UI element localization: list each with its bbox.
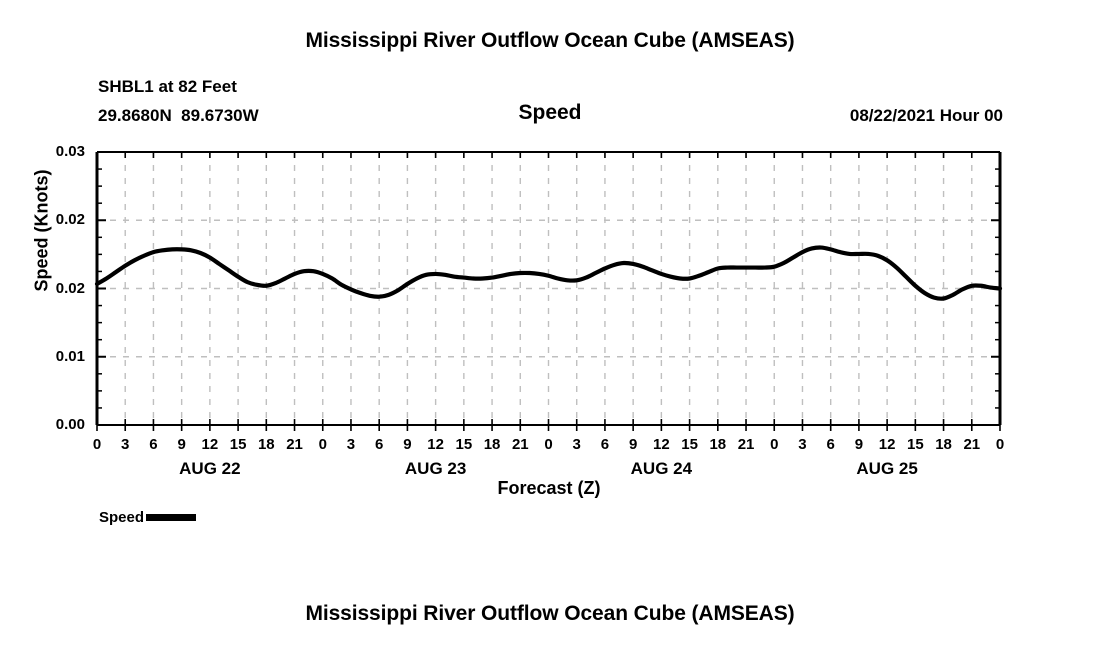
- x-tick-label: 6: [364, 436, 394, 453]
- x-tick-label: 0: [985, 436, 1015, 453]
- x-tick-label: 9: [392, 436, 422, 453]
- x-tick-label: 12: [421, 436, 451, 453]
- x-tick-label: 18: [703, 436, 733, 453]
- x-tick-label: 9: [167, 436, 197, 453]
- day-label: AUG 24: [591, 459, 731, 479]
- x-tick-label: 3: [336, 436, 366, 453]
- day-label: AUG 25: [817, 459, 957, 479]
- y-tick-label: 0.02: [25, 280, 85, 297]
- x-tick-label: 21: [957, 436, 987, 453]
- y-tick-label: 0.03: [25, 143, 85, 160]
- x-tick-label: 6: [816, 436, 846, 453]
- chart-legend: Speed: [99, 509, 196, 526]
- x-tick-label: 9: [618, 436, 648, 453]
- x-tick-label: 21: [731, 436, 761, 453]
- x-tick-label: 18: [929, 436, 959, 453]
- x-tick-label: 12: [646, 436, 676, 453]
- x-tick-label: 15: [675, 436, 705, 453]
- x-tick-label: 15: [449, 436, 479, 453]
- x-tick-label: 21: [280, 436, 310, 453]
- x-tick-label: 21: [505, 436, 535, 453]
- x-axis-title: Forecast (Z): [349, 478, 749, 499]
- x-tick-label: 3: [787, 436, 817, 453]
- footer-title: Mississippi River Outflow Ocean Cube (AM…: [0, 602, 1100, 626]
- legend-label-speed: Speed: [99, 509, 144, 526]
- plot-area: Speed (Knots) Forecast (Z) 0.030.020.020…: [0, 0, 1100, 650]
- x-tick-label: 15: [223, 436, 253, 453]
- day-label: AUG 23: [366, 459, 506, 479]
- x-tick-label: 6: [138, 436, 168, 453]
- y-tick-label: 0.01: [25, 348, 85, 365]
- x-tick-label: 0: [308, 436, 338, 453]
- gridlines: [97, 152, 1000, 425]
- x-tick-label: 18: [477, 436, 507, 453]
- y-tick-label: 0.00: [25, 416, 85, 433]
- x-tick-label: 12: [195, 436, 225, 453]
- chart-svg: [0, 0, 1100, 650]
- x-tick-label: 0: [82, 436, 112, 453]
- legend-swatch-speed: [146, 514, 196, 521]
- x-tick-label: 3: [562, 436, 592, 453]
- y-tick-label: 0.02: [25, 211, 85, 228]
- x-tick-label: 0: [534, 436, 564, 453]
- x-tick-label: 12: [872, 436, 902, 453]
- x-tick-label: 15: [900, 436, 930, 453]
- x-tick-label: 0: [759, 436, 789, 453]
- x-tick-label: 3: [110, 436, 140, 453]
- day-label: AUG 22: [140, 459, 280, 479]
- x-tick-label: 18: [251, 436, 281, 453]
- chart-page: Mississippi River Outflow Ocean Cube (AM…: [0, 0, 1100, 650]
- x-tick-label: 9: [844, 436, 874, 453]
- x-tick-label: 6: [590, 436, 620, 453]
